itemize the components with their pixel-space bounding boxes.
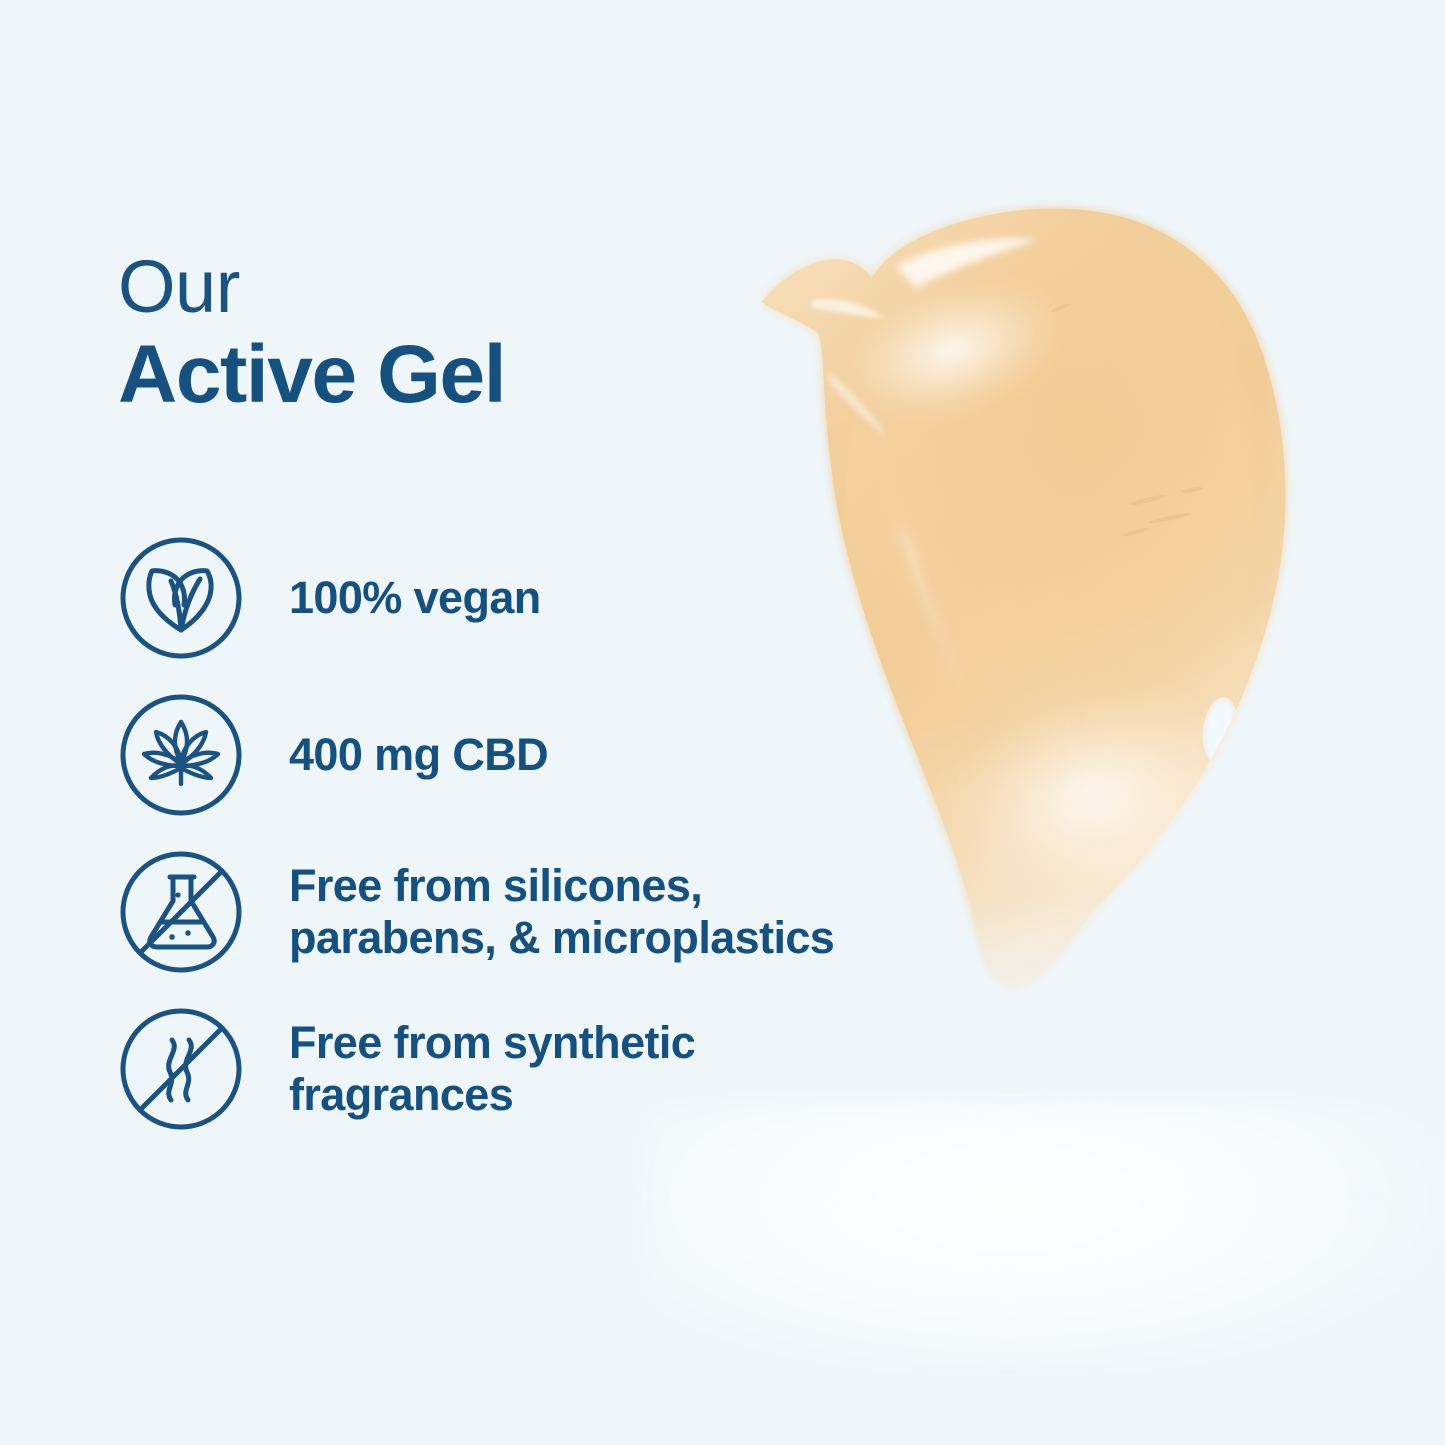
no-fragrance-waves-icon bbox=[118, 1006, 244, 1132]
feature-list: 100% vegan bbox=[118, 531, 1018, 1136]
feature-item-no-chemicals: Free from silicones, parabens, & micropl… bbox=[118, 845, 1018, 979]
heading-block: Our Active Gel bbox=[118, 252, 978, 416]
product-feature-card: Our Active Gel 100% vegan bbox=[0, 0, 1445, 1445]
feature-item-no-fragrance: Free from synthetic fragrances bbox=[118, 1002, 1018, 1136]
feature-item-cbd: 400 mg CBD bbox=[118, 688, 1018, 822]
vegan-leaves-icon bbox=[118, 535, 244, 661]
feature-item-vegan: 100% vegan bbox=[118, 531, 1018, 665]
feature-label: 100% vegan bbox=[289, 572, 541, 624]
feature-label: Free from synthetic fragrances bbox=[289, 1017, 695, 1121]
feature-label: Free from silicones, parabens, & micropl… bbox=[289, 860, 834, 964]
heading-eyebrow: Our bbox=[118, 252, 978, 322]
surface-sheen bbox=[640, 1100, 1445, 1380]
cannabis-leaf-icon bbox=[118, 692, 244, 818]
page-title: Active Gel bbox=[118, 334, 978, 416]
no-chemicals-flask-icon bbox=[118, 849, 244, 975]
feature-label: 400 mg CBD bbox=[289, 729, 548, 781]
